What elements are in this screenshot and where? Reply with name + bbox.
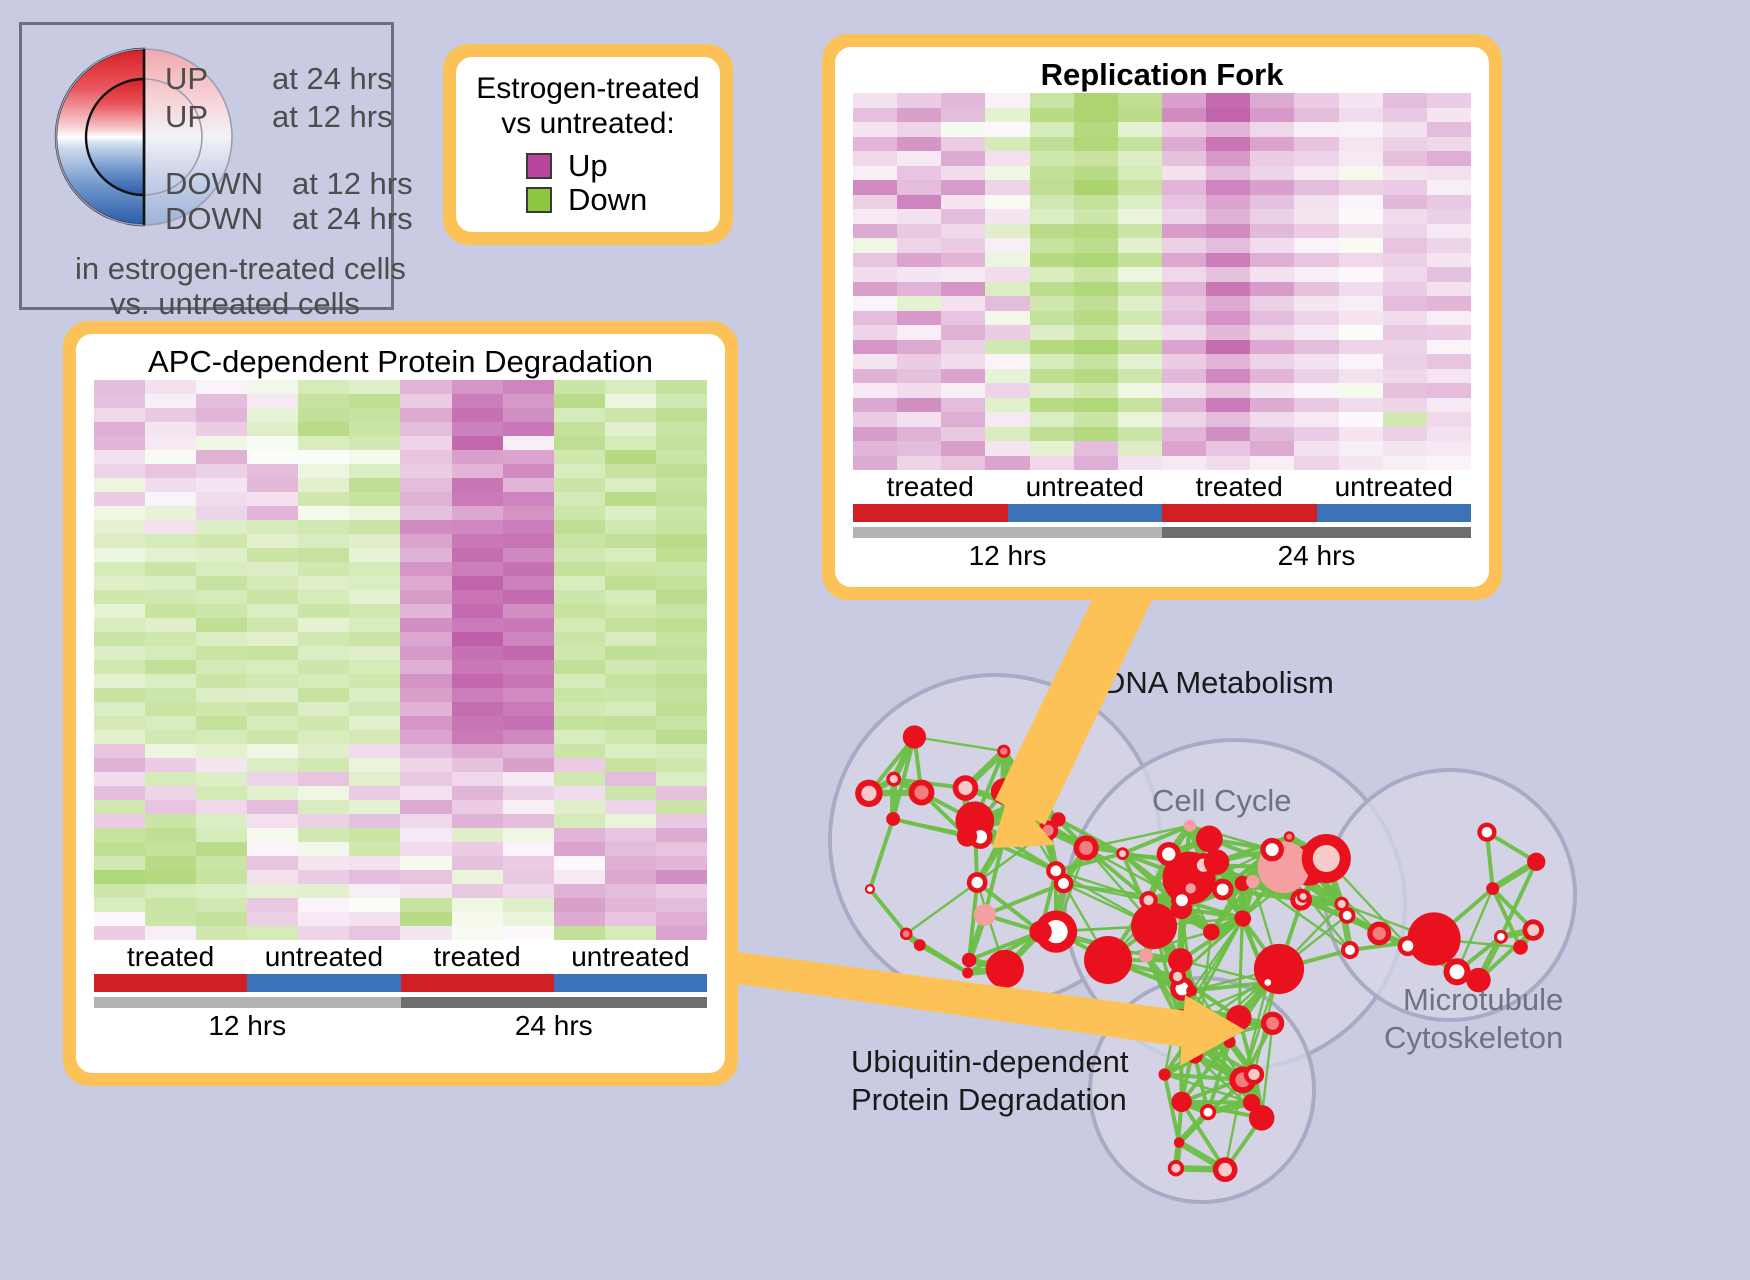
heatmap-cell: [145, 884, 196, 898]
heatmap-cell: [554, 562, 605, 576]
heatmap-cell: [94, 548, 145, 562]
heatmap-cell: [196, 408, 247, 422]
heatmap-cell: [145, 786, 196, 800]
heatmap-cell: [554, 520, 605, 534]
heatmap-cell: [247, 464, 298, 478]
heatmap-cell: [1118, 253, 1162, 268]
network-node-core: [1176, 894, 1188, 906]
heatmap-cell: [298, 506, 349, 520]
heatmap-cell: [897, 166, 941, 181]
heatmap-cell: [1206, 137, 1250, 152]
heatmap-cell: [196, 828, 247, 842]
heatmap-cell: [1383, 93, 1427, 108]
heatmap-cell: [400, 674, 451, 688]
heatmap-cell: [985, 354, 1029, 369]
heatmap-cell: [941, 369, 985, 384]
heatmap-cell: [1294, 122, 1338, 137]
heatmap-cell: [349, 688, 400, 702]
heatmap-cell: [1206, 93, 1250, 108]
axis-group-label: untreated: [554, 940, 707, 974]
network-node-core: [1313, 845, 1340, 872]
heatmap-cell: [1074, 137, 1118, 152]
heatmap-cell: [349, 702, 400, 716]
heatmap-cell: [941, 137, 985, 152]
heatmap-cell: [452, 618, 503, 632]
heatmap-cell: [1118, 456, 1162, 471]
heatmap-cell: [605, 408, 656, 422]
heatmap-cell: [247, 632, 298, 646]
heatmap-cell: [349, 450, 400, 464]
heatmap-cell: [1427, 195, 1471, 210]
heatmap-cell: [605, 422, 656, 436]
network-node[interactable]: [1186, 883, 1196, 893]
heatmap-cell: [196, 548, 247, 562]
network-node[interactable]: [1171, 1092, 1191, 1112]
heatmap-cell: [1206, 412, 1250, 427]
heatmap-cell: [452, 548, 503, 562]
heatmap-cell: [1030, 253, 1074, 268]
heatmap-cell: [503, 534, 554, 548]
network-node[interactable]: [1235, 911, 1251, 927]
network-node[interactable]: [1513, 940, 1528, 955]
network-node-core: [971, 877, 982, 888]
heatmap-cell: [503, 716, 554, 730]
network-node[interactable]: [962, 953, 977, 968]
heatmap-cell: [298, 450, 349, 464]
heatmap-cell: [349, 870, 400, 884]
heatmap-cell: [1030, 180, 1074, 195]
network-node[interactable]: [962, 967, 973, 978]
heatmap-cell: [897, 398, 941, 413]
heatmap-cell: [196, 576, 247, 590]
heatmap-cell: [349, 730, 400, 744]
heatmap-cell: [298, 520, 349, 534]
heatmap-cell: [247, 800, 298, 814]
heatmap-cell: [1383, 369, 1427, 384]
heatmap-cell: [554, 674, 605, 688]
heatmap-cell: [196, 912, 247, 926]
network-node[interactable]: [1084, 936, 1132, 984]
heatmap-cell: [554, 898, 605, 912]
heatmap-cell: [145, 730, 196, 744]
heatmap-cell: [656, 814, 707, 828]
network-node[interactable]: [1051, 812, 1065, 826]
heatmap-cell: [853, 340, 897, 355]
heatmap-cell: [452, 632, 503, 646]
axis-group-label: untreated: [247, 940, 400, 974]
network-node[interactable]: [1158, 1068, 1170, 1080]
network-node[interactable]: [1226, 1005, 1251, 1030]
heatmap-cell: [656, 800, 707, 814]
heatmap-cell: [400, 380, 451, 394]
heatmap-cell: [1074, 311, 1118, 326]
heatmap-cell: [349, 590, 400, 604]
heatmap-cell: [1427, 180, 1471, 195]
heatmap-cell: [1339, 354, 1383, 369]
heatmap-cell: [1030, 137, 1074, 152]
network-node-core: [1266, 843, 1279, 856]
heatmap-cell: [94, 702, 145, 716]
heatmap-cell: [1294, 340, 1338, 355]
axis-group-label: treated: [1162, 470, 1317, 504]
heatmap-cell: [985, 238, 1029, 253]
key-label-up: Up: [568, 149, 608, 183]
heatmap-cell: [1383, 195, 1427, 210]
network-node-core: [1119, 850, 1126, 857]
heatmap-cell: [298, 926, 349, 940]
heatmap-cell: [452, 828, 503, 842]
heatmap-cell: [941, 166, 985, 181]
heatmap-cell: [298, 562, 349, 576]
heatmap-cell: [1427, 282, 1471, 297]
network-node[interactable]: [1224, 1036, 1236, 1048]
heatmap-cell: [1206, 195, 1250, 210]
heatmap-cell: [1294, 412, 1338, 427]
heatmap-cell: [145, 912, 196, 926]
heatmap-cell: [94, 464, 145, 478]
heatmap-cell: [1030, 325, 1074, 340]
heatmap-cell: [94, 716, 145, 730]
heatmap-cell: [145, 478, 196, 492]
heatmap-cell: [349, 562, 400, 576]
network-node[interactable]: [957, 826, 977, 846]
heatmap-cell: [1162, 166, 1206, 181]
network-node[interactable]: [1174, 1137, 1185, 1148]
heatmap-cell: [1250, 238, 1294, 253]
network-node[interactable]: [1486, 882, 1499, 895]
heatmap-cell: [145, 870, 196, 884]
heatmap-cell: [94, 800, 145, 814]
heatmap-cell: [247, 702, 298, 716]
heatmap-cell: [452, 604, 503, 618]
heatmap-cell: [985, 267, 1029, 282]
heatmap-cell: [1339, 253, 1383, 268]
heatmap-cell: [145, 422, 196, 436]
network-node[interactable]: [914, 939, 926, 951]
heatmap-cell: [941, 296, 985, 311]
heatmap-cell: [349, 814, 400, 828]
heatmap-cell: [941, 180, 985, 195]
heatmap-cell: [897, 427, 941, 442]
heatmap-cell: [503, 926, 554, 940]
heatmap-cell: [349, 758, 400, 772]
heatmap-cell: [941, 412, 985, 427]
heatmap-cell: [853, 267, 897, 282]
heatmap-cell: [1118, 282, 1162, 297]
network-node-core: [1482, 827, 1493, 838]
heatmap-cell: [145, 926, 196, 940]
axis-time-label: 24 hrs: [401, 1008, 708, 1044]
replication-fork-time-bar: [853, 527, 1471, 538]
heatmap-cell: [853, 412, 897, 427]
network-node[interactable]: [1246, 875, 1259, 888]
heatmap-cell: [196, 744, 247, 758]
heatmap-cell: [605, 688, 656, 702]
heatmap-cell: [605, 604, 656, 618]
heatmap-cell: [1206, 383, 1250, 398]
network-node[interactable]: [1029, 921, 1051, 943]
heatmap-cell: [298, 646, 349, 660]
network-node[interactable]: [1204, 849, 1229, 874]
heatmap-cell: [1250, 151, 1294, 166]
heatmap-cell: [349, 604, 400, 618]
heatmap-cell: [1250, 456, 1294, 471]
network-node-core: [890, 775, 898, 783]
network-node-core: [1192, 1020, 1203, 1031]
heatmap-cell: [247, 520, 298, 534]
heatmap-cell: [1383, 383, 1427, 398]
heatmap-cell: [94, 450, 145, 464]
heatmap-cell: [247, 534, 298, 548]
heatmap-cell: [1427, 412, 1471, 427]
heatmap-cell: [1074, 209, 1118, 224]
heatmap-cell: [247, 590, 298, 604]
heatmap-cell: [1294, 311, 1338, 326]
heatmap-cell: [1206, 166, 1250, 181]
heatmap-cell: [656, 450, 707, 464]
heatmap-cell: [941, 209, 985, 224]
heatmap-cell: [145, 492, 196, 506]
heatmap-cell: [503, 702, 554, 716]
network-node[interactable]: [986, 950, 1024, 988]
heatmap-cell: [452, 478, 503, 492]
heatmap-cell: [349, 786, 400, 800]
heatmap-cell: [298, 660, 349, 674]
heatmap-cell: [1074, 398, 1118, 413]
heatmap-cell: [1250, 325, 1294, 340]
network-node-core: [867, 886, 873, 892]
heatmap-cell: [94, 422, 145, 436]
heatmap-cell: [400, 688, 451, 702]
heatmap-cell: [853, 195, 897, 210]
heatmap-cell: [554, 436, 605, 450]
network-node[interactable]: [1527, 853, 1545, 871]
heatmap-cell: [1250, 253, 1294, 268]
heatmap-cell: [1162, 340, 1206, 355]
heatmap-cell: [145, 534, 196, 548]
heatmap-cell: [247, 842, 298, 856]
heatmap-cell: [94, 688, 145, 702]
heatmap-cell: [1118, 354, 1162, 369]
heatmap-cell: [897, 137, 941, 152]
heatmap-cell: [897, 93, 941, 108]
heatmap-cell: [1427, 108, 1471, 123]
heatmap-cell: [145, 842, 196, 856]
apc-panel-title: APC-dependent Protein Degradation: [76, 344, 725, 380]
heatmap-cell: [1206, 296, 1250, 311]
heatmap-cell: [247, 688, 298, 702]
heatmap-cell: [554, 842, 605, 856]
heatmap-cell: [94, 604, 145, 618]
replication-fork-time-labels: 12 hrs24 hrs: [853, 538, 1471, 574]
apc-group-labels: treateduntreatedtreateduntreated: [94, 940, 707, 974]
heatmap-cell: [1294, 441, 1338, 456]
network-node[interactable]: [1249, 1105, 1275, 1131]
heatmap-cell: [941, 151, 985, 166]
heatmap-cell: [145, 646, 196, 660]
heatmap-cell: [1118, 93, 1162, 108]
heatmap-cell: [605, 772, 656, 786]
heatmap-cell: [298, 576, 349, 590]
heatmap-cell: [1294, 238, 1338, 253]
network-node[interactable]: [1407, 912, 1460, 965]
heatmap-cell: [145, 506, 196, 520]
network-node[interactable]: [1187, 1048, 1203, 1064]
network-node-core: [1264, 979, 1271, 986]
heatmap-cell: [985, 180, 1029, 195]
heatmap-cell: [941, 122, 985, 137]
network-node[interactable]: [1131, 903, 1177, 949]
heatmap-cell: [452, 786, 503, 800]
heatmap-cell: [656, 702, 707, 716]
heatmap-cell: [247, 506, 298, 520]
heatmap-cell: [1383, 340, 1427, 355]
network-node[interactable]: [1254, 944, 1304, 994]
wheel-footer-line2: vs. untreated cells: [110, 288, 360, 319]
heatmap-cell: [605, 870, 656, 884]
heatmap-cell: [1383, 108, 1427, 123]
heatmap-cell: [1339, 209, 1383, 224]
network-node[interactable]: [998, 833, 1009, 844]
heatmap-cell: [656, 534, 707, 548]
heatmap-cell: [196, 884, 247, 898]
heatmap-cell: [400, 912, 451, 926]
heatmap-cell: [400, 926, 451, 940]
heatmap-cell: [503, 828, 554, 842]
heatmap-cell: [503, 898, 554, 912]
heatmap-cell: [1294, 253, 1338, 268]
heatmap-cell: [554, 408, 605, 422]
heatmap-cell: [247, 884, 298, 898]
heatmap-cell: [941, 340, 985, 355]
heatmap-cell: [1074, 383, 1118, 398]
heatmap-cell: [145, 436, 196, 450]
heatmap-cell: [1074, 108, 1118, 123]
heatmap-cell: [145, 394, 196, 408]
heatmap-cell: [1339, 166, 1383, 181]
heatmap-cell: [1427, 209, 1471, 224]
heatmap-cell: [1250, 398, 1294, 413]
heatmap-cell: [1427, 93, 1471, 108]
heatmap-cell: [196, 758, 247, 772]
heatmap-cell: [145, 758, 196, 772]
heatmap-cell: [853, 122, 897, 137]
heatmap-cell: [400, 548, 451, 562]
heatmap-cell: [196, 450, 247, 464]
heatmap-cell: [452, 506, 503, 520]
heatmap-cell: [94, 828, 145, 842]
replication-fork-panel: Replication Fork treateduntreatedtreated…: [822, 34, 1502, 600]
heatmap-cell: [145, 674, 196, 688]
heatmap-cell: [1162, 180, 1206, 195]
heatmap-cell: [94, 576, 145, 590]
heatmap-cell: [1383, 427, 1427, 442]
heatmap-cell: [1206, 108, 1250, 123]
heatmap-cell: [298, 828, 349, 842]
heatmap-cell: [897, 238, 941, 253]
heatmap-cell: [94, 660, 145, 674]
network-node[interactable]: [1007, 796, 1025, 814]
heatmap-cell: [298, 800, 349, 814]
heatmap-cell: [1118, 369, 1162, 384]
network-node[interactable]: [1184, 820, 1196, 832]
heatmap-cell: [605, 814, 656, 828]
heatmap-cell: [1339, 195, 1383, 210]
network-node[interactable]: [1196, 826, 1223, 853]
heatmap-cell: [452, 534, 503, 548]
heatmap-cell: [985, 151, 1029, 166]
network-node-core: [1338, 900, 1346, 908]
heatmap-cell: [853, 238, 897, 253]
heatmap-cell: [503, 632, 554, 646]
wheel-time-outer-up: at 24 hrs: [272, 63, 393, 94]
heatmap-cell: [452, 744, 503, 758]
heatmap-cell: [1206, 122, 1250, 137]
heatmap-cell: [196, 380, 247, 394]
heatmap-cell: [1074, 195, 1118, 210]
heatmap-cell: [349, 380, 400, 394]
network-node[interactable]: [903, 725, 926, 748]
heatmap-cell: [400, 576, 451, 590]
network-node[interactable]: [1139, 949, 1153, 963]
heatmap-cell: [1339, 398, 1383, 413]
heatmap-cell: [298, 730, 349, 744]
heatmap-cell: [985, 282, 1029, 297]
heatmap-cell: [298, 492, 349, 506]
heatmap-cell: [1030, 311, 1074, 326]
heatmap-cell: [247, 408, 298, 422]
heatmap-cell: [400, 408, 451, 422]
heatmap-cell: [1294, 325, 1338, 340]
heatmap-cell: [503, 506, 554, 520]
heatmap-cell: [298, 898, 349, 912]
heatmap-cell: [1206, 354, 1250, 369]
apc-degradation-panel: APC-dependent Protein Degradation treate…: [63, 321, 738, 1086]
network-node[interactable]: [1203, 924, 1220, 941]
heatmap-cell: [400, 716, 451, 730]
heatmap-cell: [298, 758, 349, 772]
heatmap-cell: [298, 632, 349, 646]
heatmap-cell: [247, 758, 298, 772]
heatmap-cell: [349, 772, 400, 786]
heatmap-cell: [400, 870, 451, 884]
heatmap-cell: [94, 898, 145, 912]
heatmap-cell: [1206, 340, 1250, 355]
heatmap-cell: [554, 744, 605, 758]
network-node[interactable]: [1172, 1015, 1187, 1030]
network-node[interactable]: [1186, 985, 1197, 996]
heatmap-cell: [554, 856, 605, 870]
network-node-core: [1162, 847, 1175, 860]
key-title-line1: Estrogen-treated: [474, 71, 702, 106]
heatmap-cell: [452, 856, 503, 870]
heatmap-cell: [400, 520, 451, 534]
heatmap-cell: [247, 604, 298, 618]
heatmap-cell: [941, 441, 985, 456]
heatmap-cell: [247, 646, 298, 660]
replication-fork-heatmap: [853, 93, 1471, 470]
heatmap-cell: [605, 534, 656, 548]
heatmap-cell: [1206, 456, 1250, 471]
network-node[interactable]: [974, 904, 996, 926]
heatmap-cell: [605, 646, 656, 660]
heatmap-cell: [897, 108, 941, 123]
heatmap-cell: [1427, 456, 1471, 471]
heatmap-cell: [298, 688, 349, 702]
network-node[interactable]: [886, 812, 900, 826]
heatmap-cell: [985, 369, 1029, 384]
heatmap-cell: [452, 450, 503, 464]
